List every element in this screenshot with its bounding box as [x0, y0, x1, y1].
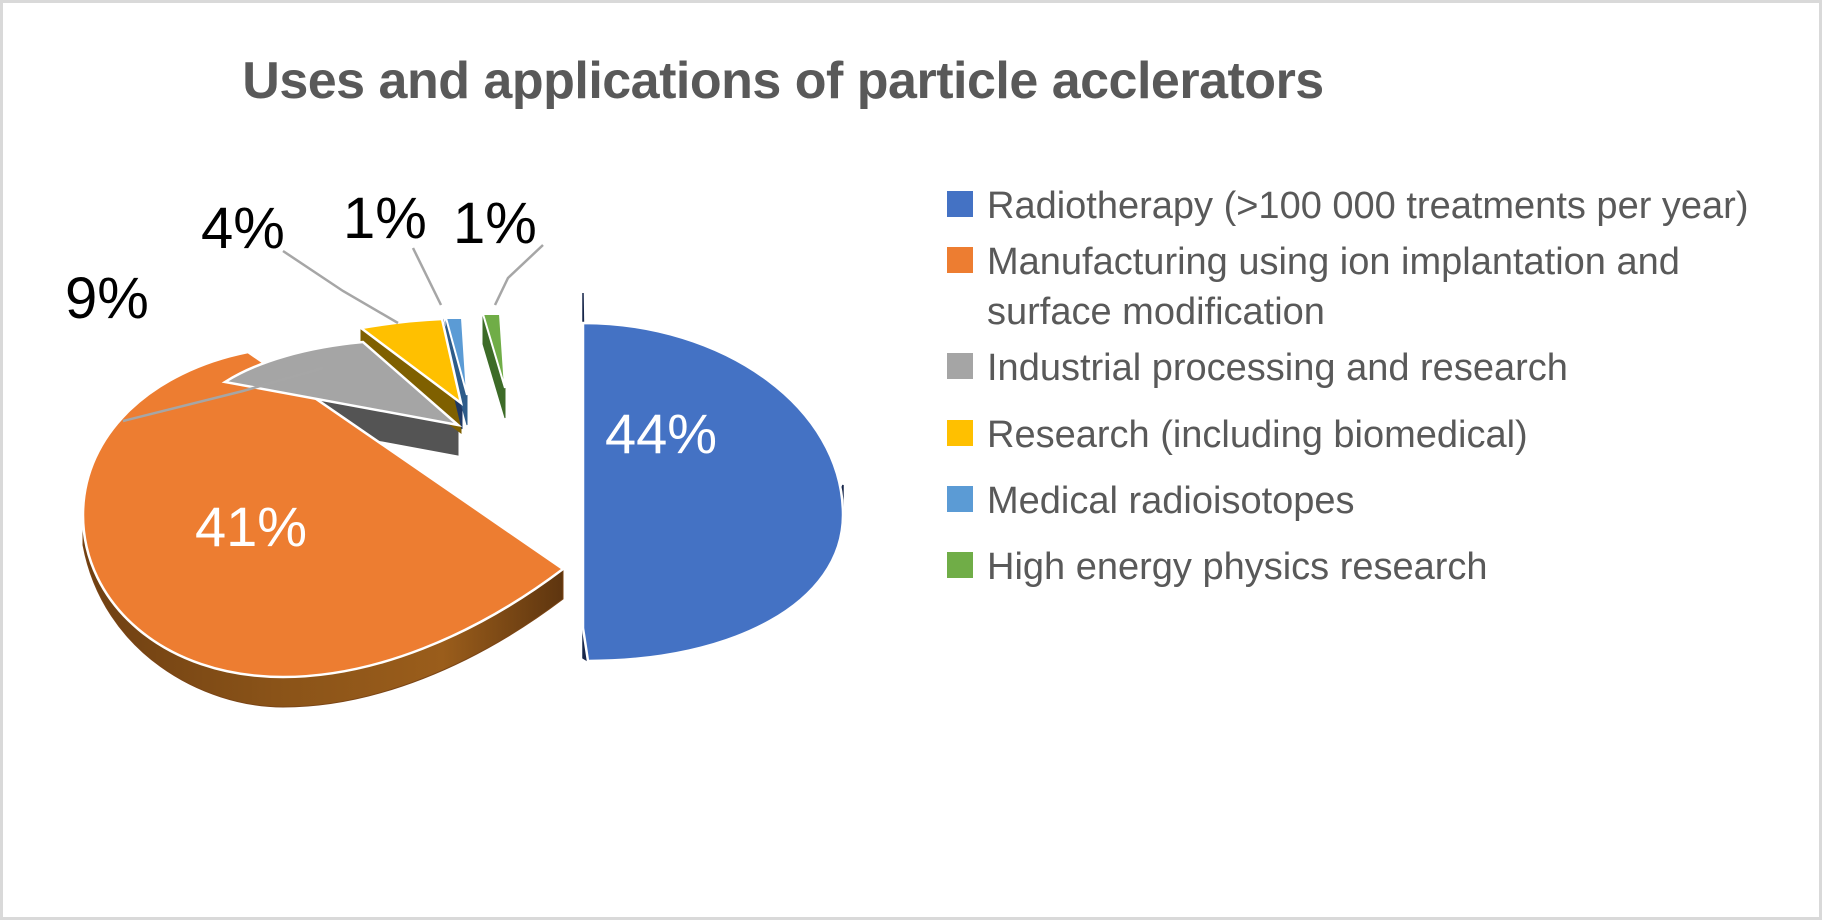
pie-label-manufacturing: 41% — [195, 495, 307, 558]
legend-item-radioisotopes[interactable]: Medical radioisotopes — [947, 476, 1797, 526]
legend-swatch-icon — [947, 191, 973, 217]
legend-item-label: High energy physics research — [987, 542, 1488, 592]
legend-item-label: Research (including biomedical) — [987, 410, 1528, 460]
pie-label-high-energy: 1% — [453, 191, 537, 256]
legend-swatch-icon — [947, 486, 973, 512]
legend-item-label: Medical radioisotopes — [987, 476, 1355, 526]
legend-item-label: Manufacturing using ion implantation and… — [987, 237, 1777, 337]
legend-swatch-icon — [947, 247, 973, 273]
legend-item-industrial[interactable]: Industrial processing and research — [947, 343, 1797, 393]
legend-item-radiotherapy[interactable]: Radiotherapy (>100 000 treatments per ye… — [947, 181, 1797, 231]
legend-item-research[interactable]: Research (including biomedical) — [947, 410, 1797, 460]
pie-label-industrial: 9% — [65, 266, 149, 331]
slice-top-radiotherapy — [583, 323, 843, 661]
legend-swatch-icon — [947, 552, 973, 578]
leader-line-radioisotopes — [413, 248, 441, 305]
chart-canvas: Uses and applications of particle accler… — [0, 0, 1822, 920]
pie-label-radiotherapy: 44% — [605, 402, 717, 465]
leader-line-research — [283, 251, 398, 323]
pie-chart-svg: 44% 41% 9% 4% 1% 1% — [43, 133, 943, 893]
legend-swatch-icon — [947, 353, 973, 379]
pie-label-research: 4% — [201, 196, 285, 261]
page-title: Uses and applications of particle accler… — [3, 51, 1563, 111]
legend-item-manufacturing[interactable]: Manufacturing using ion implantation and… — [947, 237, 1797, 337]
pie-label-radioisotopes: 1% — [343, 186, 427, 251]
legend-swatch-icon — [947, 420, 973, 446]
legend-item-high-energy[interactable]: High energy physics research — [947, 542, 1797, 592]
chart-legend: Radiotherapy (>100 000 treatments per ye… — [947, 181, 1797, 608]
pie-chart-area: 44% 41% 9% 4% 1% 1% — [43, 133, 943, 893]
legend-item-label: Industrial processing and research — [987, 343, 1568, 393]
legend-item-label: Radiotherapy (>100 000 treatments per ye… — [987, 181, 1748, 231]
